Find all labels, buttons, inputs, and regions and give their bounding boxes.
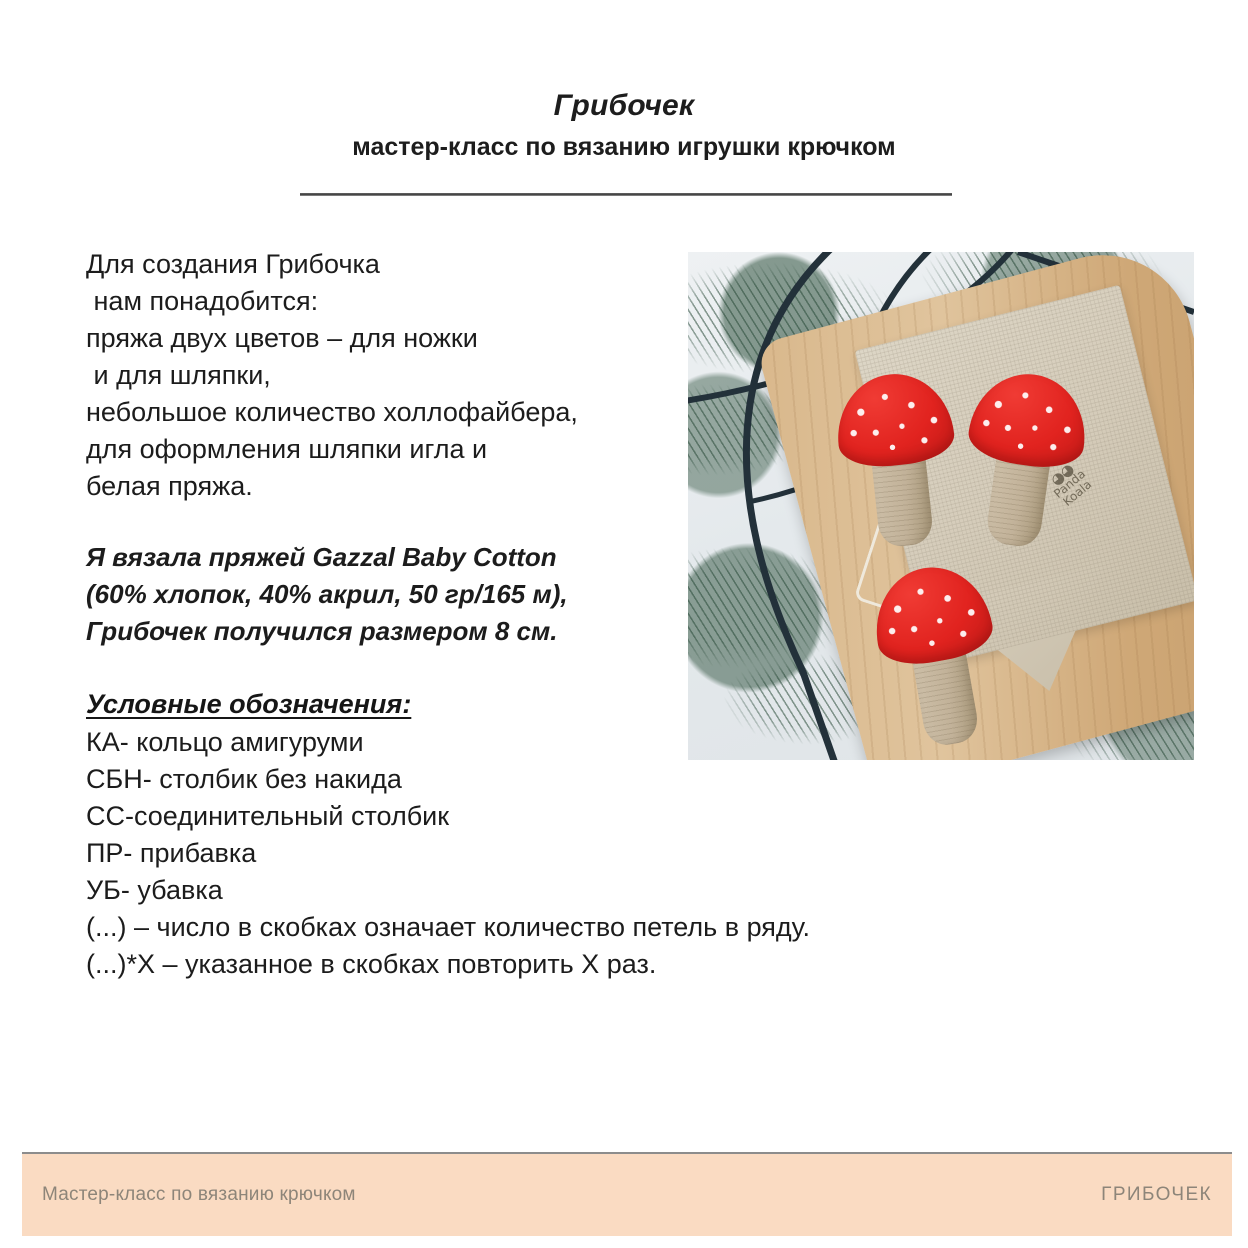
legend-block: Условные обозначения: КА- кольцо амигуру… (86, 686, 696, 983)
legend-item: СБН- столбик без накида (86, 761, 696, 798)
page-footer: Мастер-класс по вязанию крючком ГРИБОЧЕК (22, 1152, 1232, 1236)
page-title: Грибочек (0, 88, 1248, 124)
header-divider (300, 193, 952, 196)
legend-list: КА- кольцо амигуруми СБН- столбик без на… (86, 724, 696, 983)
legend-item: ПР- прибавка (86, 835, 696, 872)
product-photo: ◕◕ Panda Koala (688, 252, 1194, 760)
page-subtitle: мастер-класс по вязанию игрушки крючком (0, 130, 1248, 164)
footer-left-text: Мастер-класс по вязанию крючком (42, 1184, 356, 1206)
legend-item: СС-соединительный столбик (86, 798, 696, 835)
mushroom-toy (832, 368, 965, 542)
legend-title: Условные обозначения: (86, 686, 411, 722)
yarn-paragraph: Я вязала пряжей Gazzal Baby Cotton (60% … (86, 539, 696, 650)
mushroom-cap (966, 367, 1094, 473)
text-column: Для создания Грибочка нам понадобится: п… (86, 246, 696, 983)
photo-scene: ◕◕ Panda Koala (688, 252, 1194, 760)
mushroom-cap (832, 368, 957, 471)
legend-item: КА- кольцо амигуруми (86, 724, 696, 761)
master-class-page: Грибочек мастер-класс по вязанию игрушки… (0, 0, 1248, 1248)
legend-item: УБ- убавка (86, 872, 696, 909)
footer-right-text: ГРИБОЧЕК (1101, 1184, 1212, 1206)
mushroom-cap (867, 558, 998, 671)
legend-item: (...) – число в скобках означает количес… (86, 909, 696, 946)
mushroom-toy (956, 367, 1094, 544)
materials-paragraph: Для создания Грибочка нам понадобится: п… (86, 246, 696, 505)
page-header: Грибочек мастер-класс по вязанию игрушки… (0, 88, 1248, 164)
legend-item: (...)*Х – указанное в скобках повторить … (86, 946, 696, 983)
